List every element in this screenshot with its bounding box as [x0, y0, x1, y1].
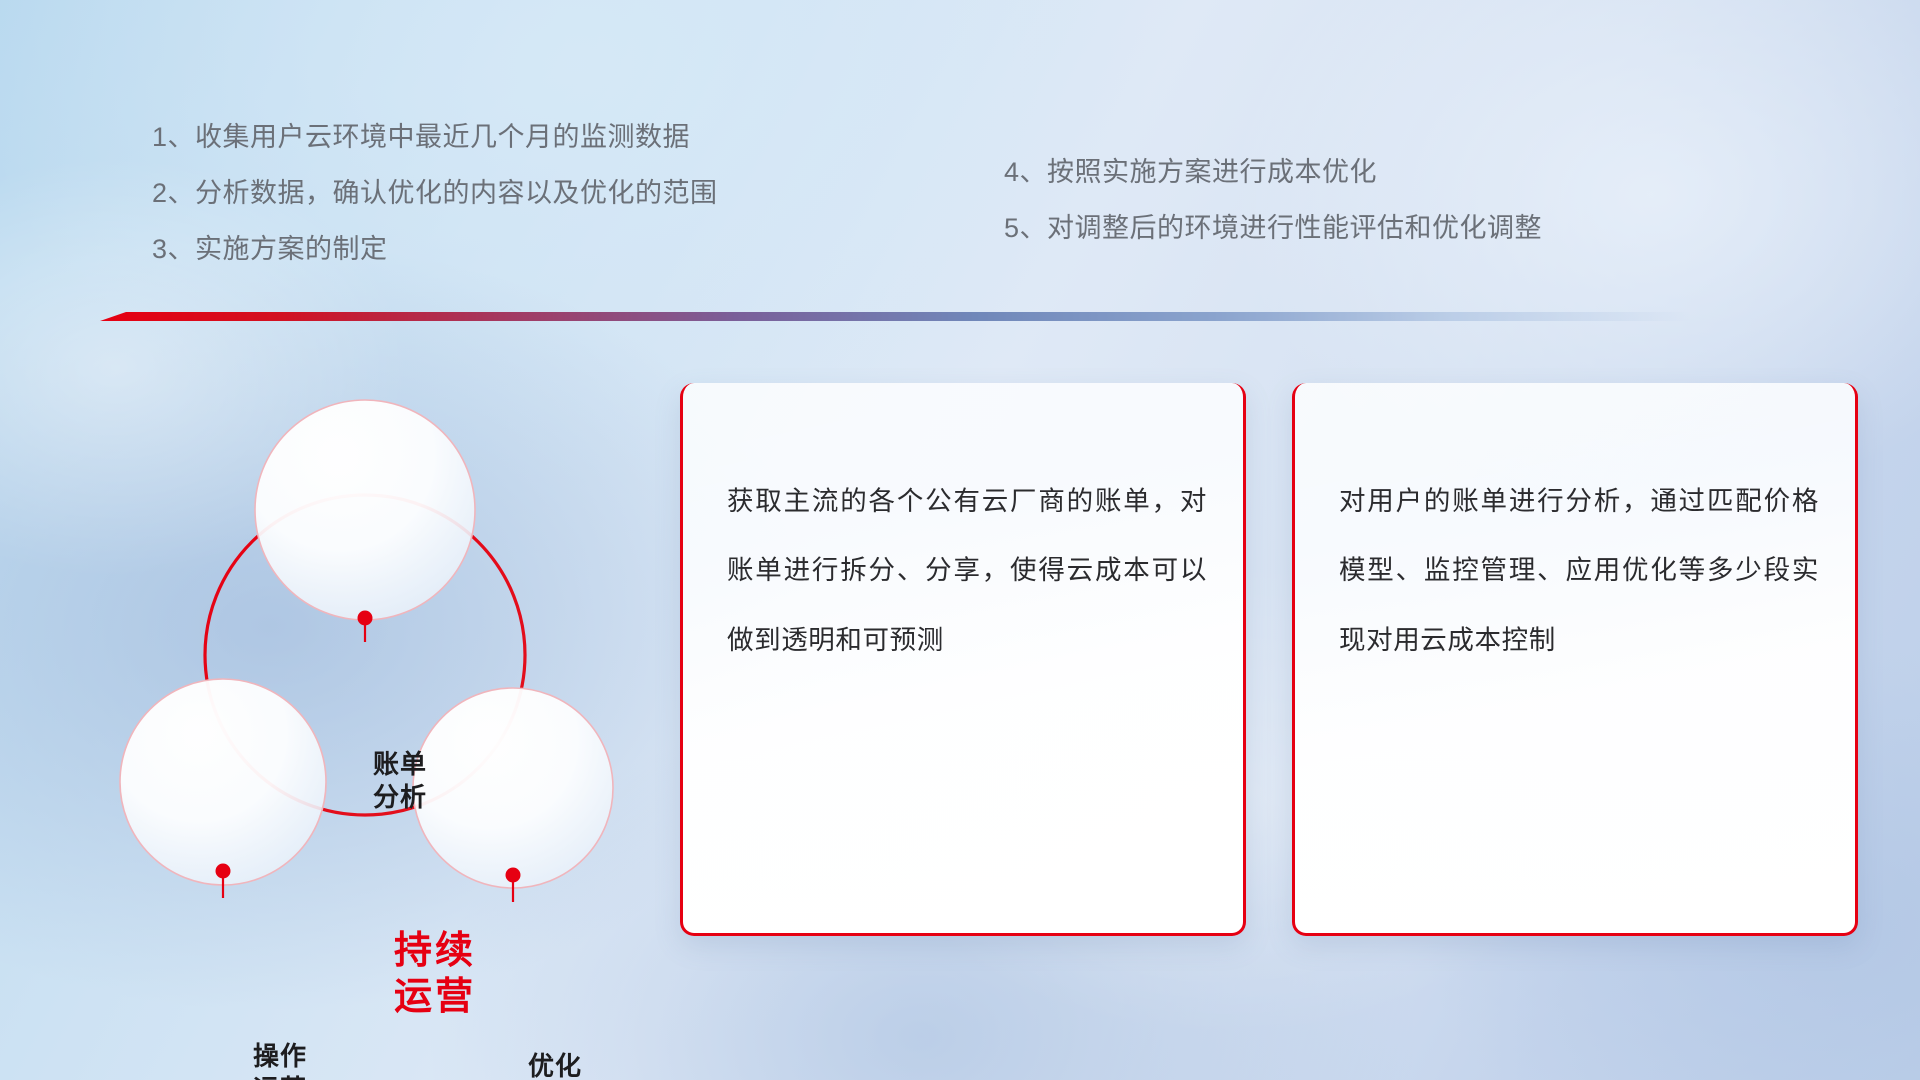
step-item-2: 2、分析数据，确认优化的内容以及优化的范围 [152, 180, 718, 207]
info-card-cloud-cost-optimization[interactable]: 对用户的账单进行分析，通过匹配价格模型、监控管理、应用优化等多少段实现对用云成本… [1292, 383, 1858, 936]
bubble-label-optimization-strategy: 优化 策略 [470, 1050, 640, 1080]
bubble-operations [120, 679, 326, 885]
steps-list-left: 1、收集用户云环境中最近几个月的监测数据 2、分析数据，确认优化的内容以及优化的… [152, 124, 718, 263]
steps-list-right: 4、按照实施方案进行成本优化 5、对调整后的环境进行性能评估和优化调整 [1004, 159, 1542, 242]
continuous-operation-diagram: 账单 分析 操作 运营 优化 策略 持续 运营 [95, 350, 655, 950]
diagram-svg [95, 350, 655, 950]
card-body-text: 获取主流的各个公有云厂商的账单，对账单进行拆分、分享，使得云成本可以做到透明和可… [727, 467, 1207, 675]
node-dot-left [216, 864, 231, 879]
card-body-text: 对用户的账单进行分析，通过匹配价格模型、监控管理、应用优化等多少段实现对用云成本… [1339, 467, 1819, 675]
section-divider-line [100, 312, 1690, 321]
info-card-multi-cloud-billing-platform[interactable]: 获取主流的各个公有云厂商的账单，对账单进行拆分、分享，使得云成本可以做到透明和可… [680, 383, 1246, 936]
bubble-label-line-1: 优化 [470, 1050, 640, 1080]
bubble-optimization-strategy [413, 688, 613, 888]
center-label-line-2: 运营 [340, 974, 530, 1020]
bubble-label-operations: 操作 运营 [195, 1040, 365, 1080]
step-item-3: 3、实施方案的制定 [152, 236, 718, 263]
slide-canvas: 1、收集用户云环境中最近几个月的监测数据 2、分析数据，确认优化的内容以及优化的… [0, 0, 1920, 1080]
bubble-label-line-2: 运营 [195, 1073, 365, 1080]
step-item-4: 4、按照实施方案进行成本优化 [1004, 159, 1542, 186]
bubble-label-line-1: 操作 [195, 1040, 365, 1073]
step-item-1: 1、收集用户云环境中最近几个月的监测数据 [152, 124, 718, 151]
step-item-5: 5、对调整后的环境进行性能评估和优化调整 [1004, 215, 1542, 242]
bubble-billing-analysis [255, 400, 475, 620]
node-dot-right [506, 868, 521, 883]
node-dot-top [358, 611, 373, 626]
